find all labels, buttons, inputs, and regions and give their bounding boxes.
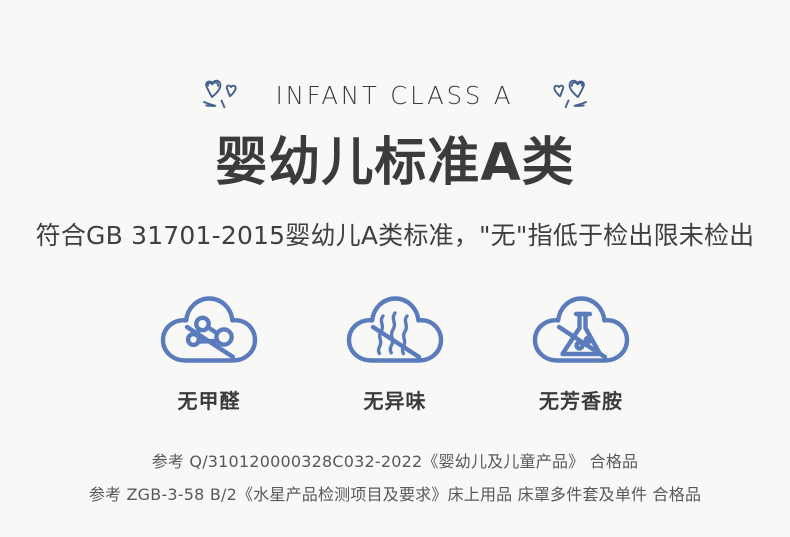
footnote-list: 参考 Q/310120000328C032-2022《婴幼儿及儿童产品》 合格品… bbox=[89, 448, 701, 505]
cloud-no-aromatic-amine-icon bbox=[529, 290, 633, 368]
feature-label: 无芳香胺 bbox=[539, 385, 623, 414]
footnote-line: 参考 ZGB-3-58 B/2《水星产品检测项目及要求》床上用品 床罩多件套及单… bbox=[89, 481, 701, 505]
feature-label: 无甲醛 bbox=[178, 385, 241, 414]
heart-doodle-icon-left bbox=[196, 72, 250, 118]
heart-doodle-icon-right bbox=[540, 72, 594, 118]
cloud-no-odor-icon bbox=[343, 290, 447, 368]
eyebrow-label: INFANT CLASS A bbox=[276, 81, 514, 110]
feature-item-no-aromatic-amine: 无芳香胺 bbox=[516, 290, 646, 414]
page-subtitle: 符合GB 31701-2015婴幼儿A类标准，"无"指低于检出限未检出 bbox=[36, 216, 755, 252]
infant-class-a-banner: INFANT CLASS A 婴幼儿标准A类 符合GB 31701-2015婴幼… bbox=[0, 0, 790, 537]
feature-item-no-odor: 无异味 bbox=[330, 290, 460, 414]
feature-list: 无甲醛 无异味 bbox=[144, 290, 646, 414]
footnote-line: 参考 Q/310120000328C032-2022《婴幼儿及儿童产品》 合格品 bbox=[152, 448, 639, 472]
feature-item-no-formaldehyde: 无甲醛 bbox=[144, 290, 274, 414]
page-title: 婴幼儿标准A类 bbox=[215, 134, 574, 192]
eyebrow-row: INFANT CLASS A bbox=[196, 72, 593, 118]
feature-label: 无异味 bbox=[364, 385, 427, 414]
cloud-no-formaldehyde-icon bbox=[157, 290, 261, 368]
